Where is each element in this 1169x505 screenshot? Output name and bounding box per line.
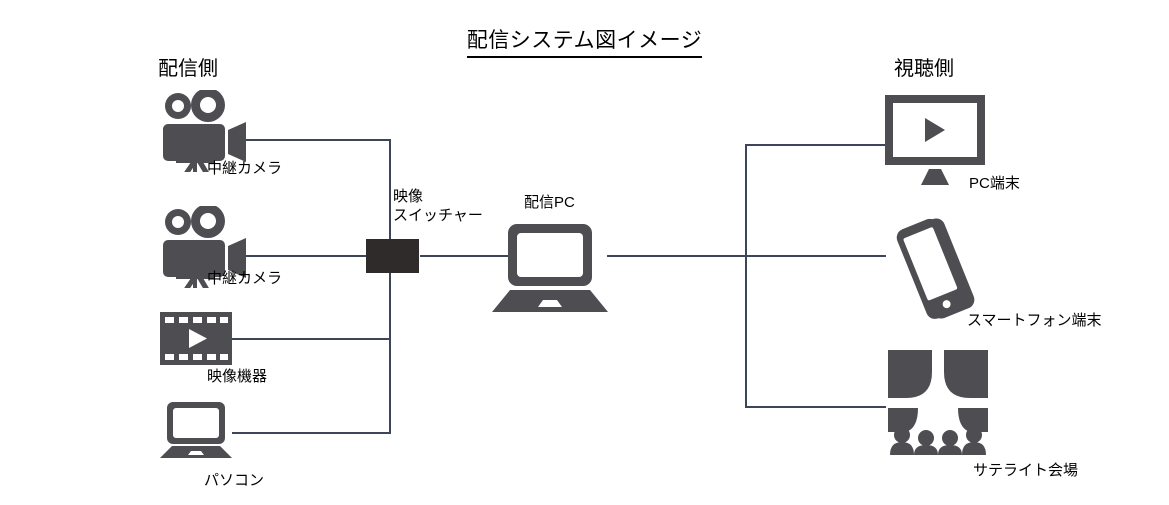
switcher-label-line2: スイッチャー — [393, 207, 483, 226]
monitor-play-icon — [885, 95, 985, 187]
node-stream-pc-label: 配信PC — [524, 194, 575, 213]
page-title-text: 配信システム図イメージ — [467, 24, 702, 58]
node-smartphone[interactable] — [883, 218, 988, 323]
connector-video-gear — [232, 338, 391, 340]
node-video-gear[interactable] — [160, 312, 232, 365]
node-pc-terminal-label: PC端末 — [969, 175, 1020, 194]
node-stream-pc[interactable] — [490, 222, 610, 318]
node-pc[interactable] — [158, 400, 248, 462]
connector-pc — [232, 432, 391, 434]
connector-stream-pc-out — [607, 255, 748, 257]
node-video-gear-label: 映像機器 — [207, 368, 267, 387]
connector-pc-terminal — [745, 144, 886, 146]
section-heading-sender: 配信側 — [158, 52, 218, 81]
diagram-canvas: 配信システム図イメージ 配信側 視聴側 映像 スイッチャー — [0, 0, 1169, 505]
venue-audience-icon — [888, 350, 988, 455]
node-smartphone-label: スマートフォン端末 — [967, 312, 1102, 331]
node-pc-label: パソコン — [204, 472, 264, 491]
laptop-icon — [490, 222, 610, 318]
connector-left-bus — [389, 139, 391, 433]
connector-camera-1 — [246, 139, 391, 141]
connector-right-bus — [745, 144, 747, 408]
smartphone-icon — [883, 218, 988, 323]
node-satellite-label: サテライト会場 — [973, 462, 1078, 481]
film-strip-icon — [160, 312, 232, 365]
node-satellite[interactable] — [888, 350, 988, 455]
node-pc-terminal[interactable] — [885, 95, 985, 187]
section-heading-viewer: 視聴側 — [894, 52, 954, 81]
switcher-box-icon — [366, 239, 419, 273]
connector-satellite — [745, 406, 886, 408]
connector-smartphone — [745, 255, 886, 257]
switcher-label: 映像 スイッチャー — [393, 188, 483, 226]
laptop-icon — [158, 400, 248, 462]
node-camera-2-label: 中継カメラ — [207, 270, 282, 289]
switcher-label-line1: 映像 — [393, 188, 483, 207]
node-camera-1-label: 中継カメラ — [207, 160, 282, 179]
